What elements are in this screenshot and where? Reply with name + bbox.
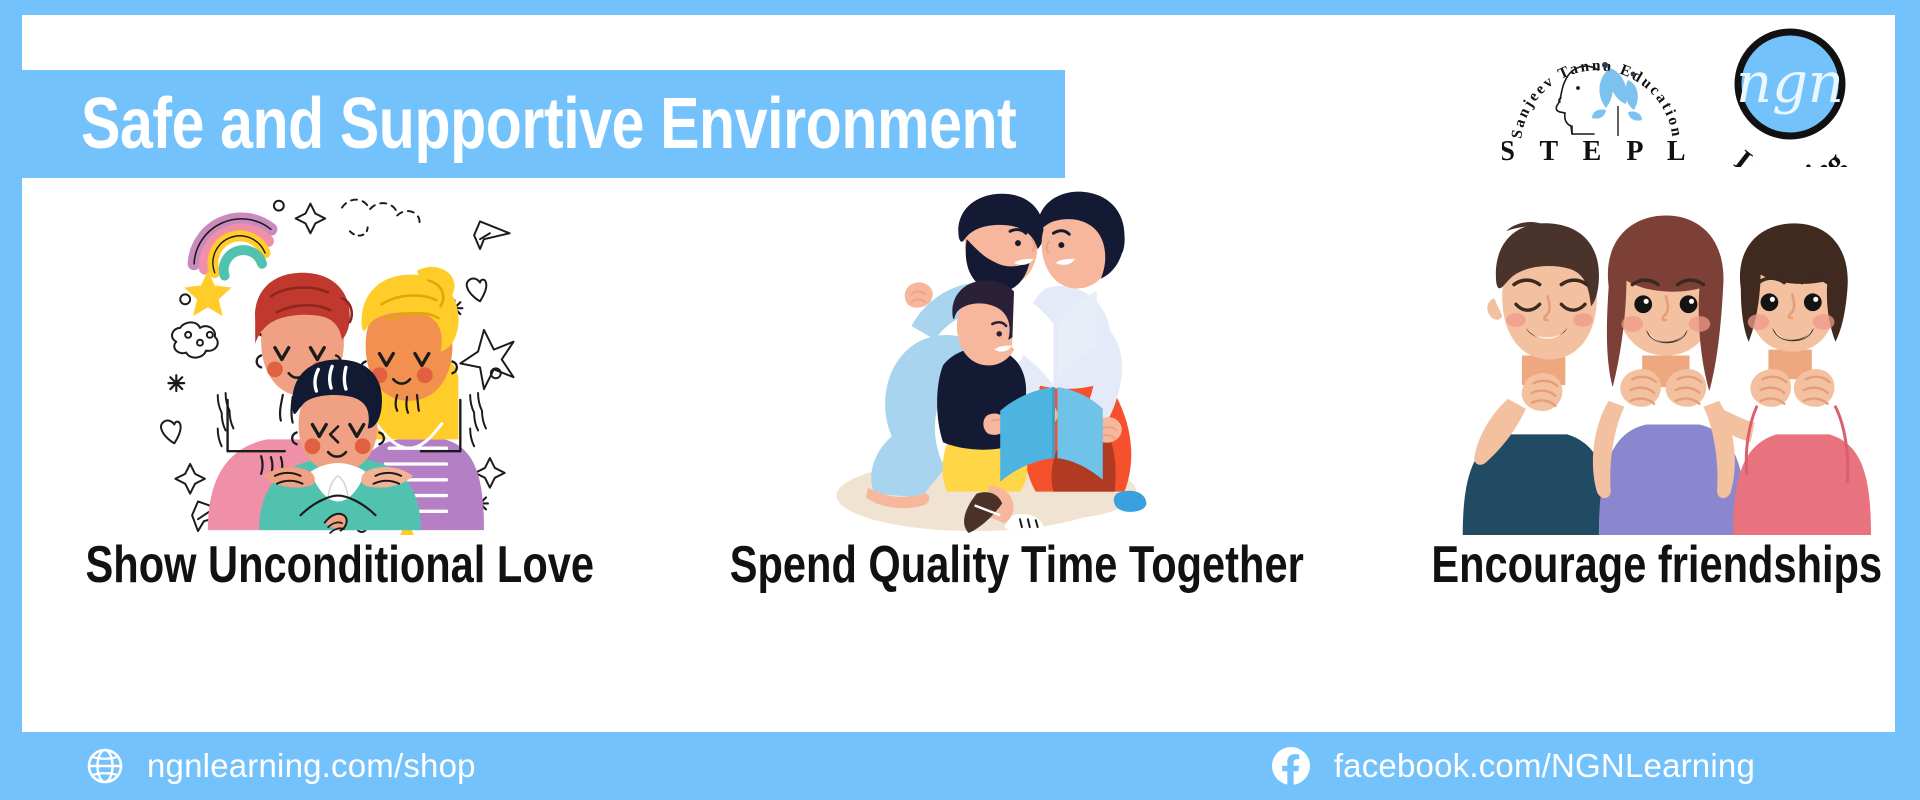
- footer-facebook[interactable]: facebook.com/NGNLearning: [1270, 745, 1755, 787]
- logo-group: Sanjeev Tanna Education: [1502, 22, 1880, 167]
- poster-root: Safe and Supportive Environment Sanjeev …: [0, 0, 1920, 800]
- title-band: Safe and Supportive Environment: [22, 70, 1065, 178]
- panel-row: Show Unconditional Love: [22, 180, 1895, 650]
- svg-text:Learning: Learning: [1728, 144, 1851, 167]
- globe-icon: [85, 746, 125, 786]
- friend-girl-right: [1733, 223, 1871, 535]
- stepl-wordmark: S T E P L: [1502, 136, 1692, 162]
- illustration-three-friends: [1375, 180, 1920, 535]
- panel-spend-quality-time: Spend Quality Time Together: [658, 180, 1376, 650]
- panel-caption: Encourage friendships: [1431, 539, 1882, 591]
- friend-boy: [1463, 222, 1611, 535]
- illustration-family-hug: [22, 180, 658, 535]
- panel-show-unconditional-love: Show Unconditional Love: [22, 180, 658, 650]
- stepl-logo: Sanjeev Tanna Education: [1502, 22, 1692, 162]
- footer-website-label: ngnlearning.com/shop: [147, 747, 476, 785]
- footer-website[interactable]: ngnlearning.com/shop: [85, 746, 476, 786]
- facebook-icon: [1270, 745, 1312, 787]
- friend-girl-center: [1593, 216, 1755, 536]
- panel-caption: Show Unconditional Love: [86, 539, 594, 591]
- page-title: Safe and Supportive Environment: [22, 88, 1016, 160]
- panel-encourage-friendships: Encourage friendships: [1375, 180, 1920, 650]
- ngn-logo: ngn Learning ngn Learning: [1700, 22, 1880, 167]
- ngn-circle-text: ngn: [1736, 51, 1844, 116]
- illustration-family-reading: [658, 180, 1376, 535]
- footer-bar: ngnlearning.com/shop facebook.com/NGNLea…: [0, 732, 1920, 800]
- panel-caption: Spend Quality Time Together: [729, 539, 1303, 591]
- footer-facebook-label: facebook.com/NGNLearning: [1334, 747, 1755, 785]
